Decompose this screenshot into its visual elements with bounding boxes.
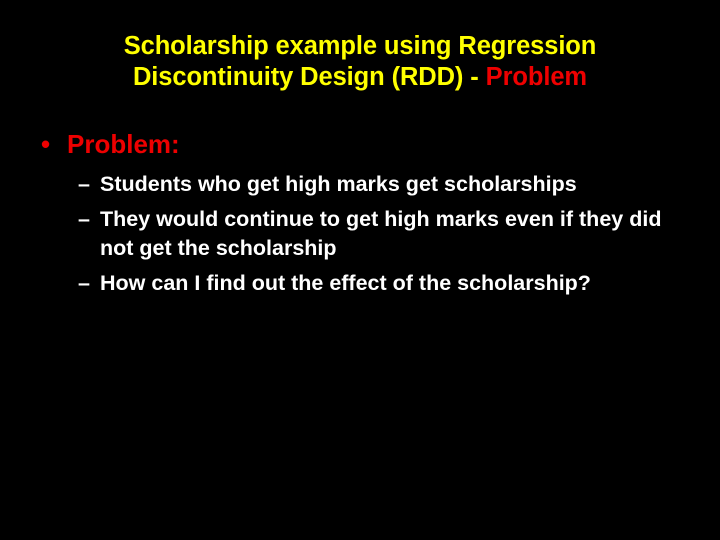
bullet-level2-item-1: – Students who get high marks get schola…	[30, 170, 690, 200]
bullet-level1-problem: • Problem:	[30, 128, 690, 161]
bullet-level2-item-2: – They would continue to get high marks …	[30, 205, 690, 264]
slide-body: • Problem: – Students who get high marks…	[30, 128, 690, 298]
title-line-2: Discontinuity Design (RDD) - Problem	[50, 62, 670, 93]
dash-marker-icon: –	[78, 170, 90, 200]
bullet-level2-text-3: How can I find out the effect of the sch…	[100, 269, 690, 299]
slide-canvas: Scholarship example using Regression Dis…	[0, 0, 720, 540]
bullet-level1-label: Problem:	[67, 129, 180, 159]
title-line-1: Scholarship example using Regression	[50, 31, 670, 62]
slide-title: Scholarship example using Regression Dis…	[50, 31, 670, 93]
dash-marker-icon: –	[78, 269, 90, 299]
bullet-dot-icon: •	[41, 128, 50, 161]
bullet-level2-text-2: They would continue to get high marks ev…	[100, 205, 690, 264]
title-accent-problem: Problem	[486, 63, 587, 91]
bullet-level2-item-3: – How can I find out the effect of the s…	[30, 269, 690, 299]
title-line-2-main: Discontinuity Design (RDD) -	[133, 63, 486, 91]
dash-marker-icon: –	[78, 205, 90, 235]
bullet-level2-text-1: Students who get high marks get scholars…	[100, 170, 690, 200]
bullet-level2-list: – Students who get high marks get schola…	[30, 170, 690, 298]
